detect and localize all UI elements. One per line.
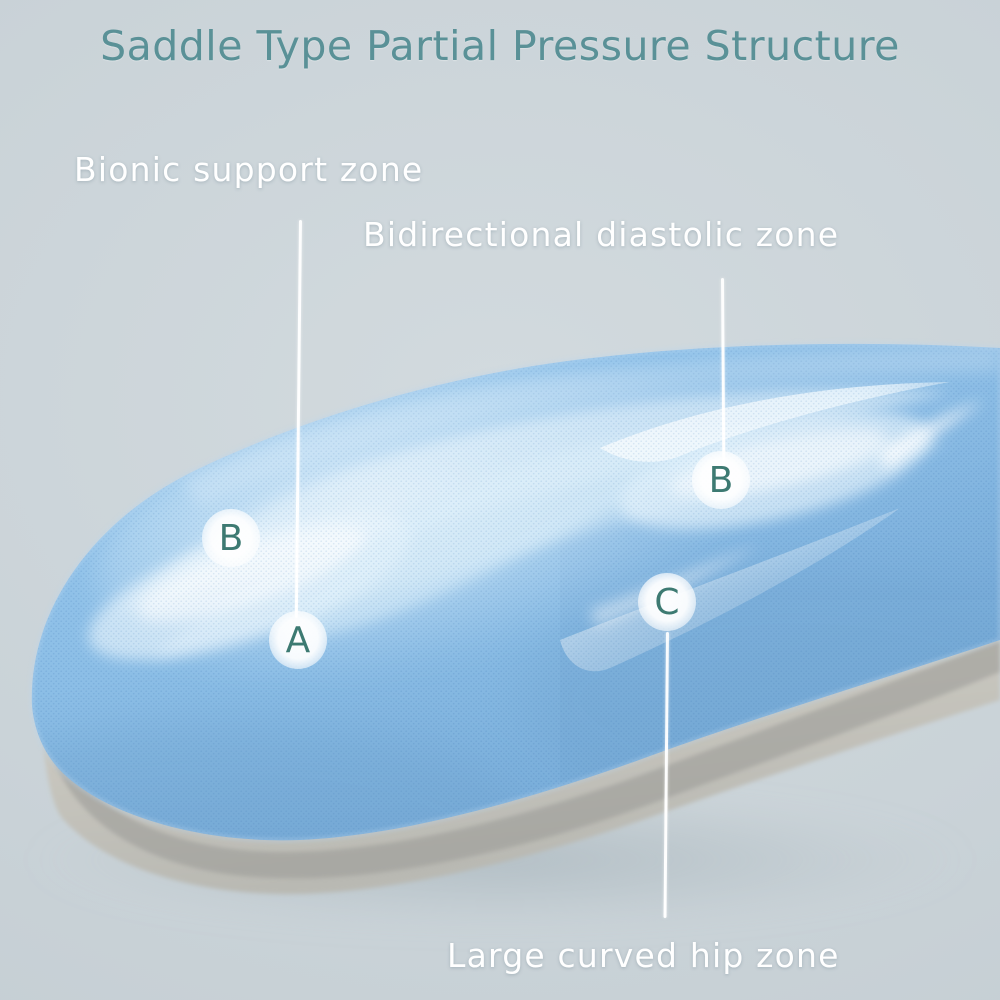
product-infographic: Saddle Type Partial Pressure Structure B… xyxy=(0,0,1000,1000)
zone-marker-b-left: B xyxy=(202,509,260,567)
callout-label-bidirectional-diastolic-zone: Bidirectional diastolic zone xyxy=(363,215,839,254)
zone-marker-a: A xyxy=(269,611,327,669)
zone-marker-c: C xyxy=(638,573,696,631)
callout-label-large-curved-hip-zone: Large curved hip zone xyxy=(447,936,840,975)
leader-line-bidirectional-diastolic-zone xyxy=(721,278,725,466)
callout-label-bionic-support-zone: Bionic support zone xyxy=(74,150,423,189)
leader-line-large-curved-hip-zone xyxy=(664,632,669,918)
zone-marker-b-right: B xyxy=(692,451,750,509)
leader-line-bionic-support-zone xyxy=(295,220,302,618)
page-title: Saddle Type Partial Pressure Structure xyxy=(0,22,1000,70)
